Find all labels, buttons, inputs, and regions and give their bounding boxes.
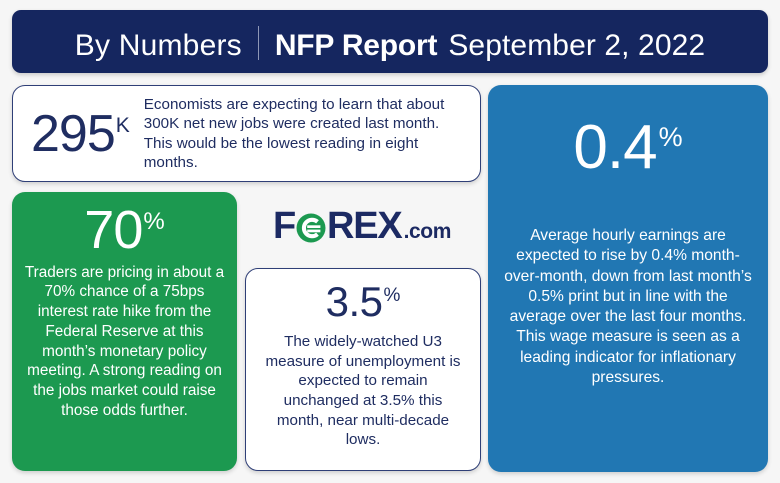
average-hourly-earnings-stat: 0.4%	[573, 115, 682, 180]
infographic-stage: By Numbers NFP Report September 2, 2022 …	[0, 0, 780, 483]
header-banner: By Numbers NFP Report September 2, 2022	[12, 10, 768, 73]
rate-hike-odds-card: 70% Traders are pricing in about a 70% c…	[12, 192, 237, 471]
unemployment-rate-card: 3.5% The widely-watched U3 measure of un…	[245, 268, 481, 471]
euro-o-icon	[295, 211, 327, 243]
page-title: NFP Report	[275, 29, 437, 63]
unemployment-rate-stat-value: 3.5	[326, 278, 383, 325]
nfp-jobs-body-text: Economists are expecting to learn that a…	[144, 95, 466, 173]
average-hourly-earnings-stat-value: 0.4	[573, 113, 656, 182]
unemployment-rate-stat-suffix: %	[383, 285, 400, 306]
logo-dotcom-suffix: .com	[404, 220, 451, 244]
unemployment-rate-stat: 3.5%	[326, 279, 401, 325]
average-hourly-earnings-card: 0.4% Average hourly earnings are expecte…	[488, 85, 768, 472]
average-hourly-earnings-body-text: Average hourly earnings are expected to …	[504, 226, 752, 388]
nfp-jobs-card: 295K Economists are expecting to learn t…	[12, 85, 481, 182]
rate-hike-odds-body-text: Traders are pricing in about a 70% chanc…	[24, 263, 225, 421]
logo-wordmark: F REX	[273, 205, 402, 248]
header-by-numbers-label: By Numbers	[75, 29, 242, 63]
logo-letters-rex: REX	[327, 205, 402, 248]
average-hourly-earnings-stat-suffix: %	[659, 122, 683, 152]
unemployment-rate-body-text: The widely-watched U3 measure of unemplo…	[259, 332, 467, 450]
header-date: September 2, 2022	[448, 29, 705, 63]
forex-com-logo: F REX .com	[248, 202, 476, 250]
logo-letter-f: F	[273, 205, 295, 248]
rate-hike-odds-stat: 70%	[84, 202, 164, 259]
nfp-jobs-stat-value: 295	[31, 105, 115, 163]
header-divider	[258, 26, 259, 60]
rate-hike-odds-stat-suffix: %	[143, 208, 164, 235]
header-inner: By Numbers NFP Report September 2, 2022	[75, 21, 705, 63]
rate-hike-odds-stat-value: 70	[84, 200, 142, 260]
nfp-jobs-stat: 295K	[31, 108, 130, 160]
nfp-jobs-stat-suffix: K	[116, 114, 130, 137]
logo-wrap: F REX .com	[273, 205, 451, 248]
